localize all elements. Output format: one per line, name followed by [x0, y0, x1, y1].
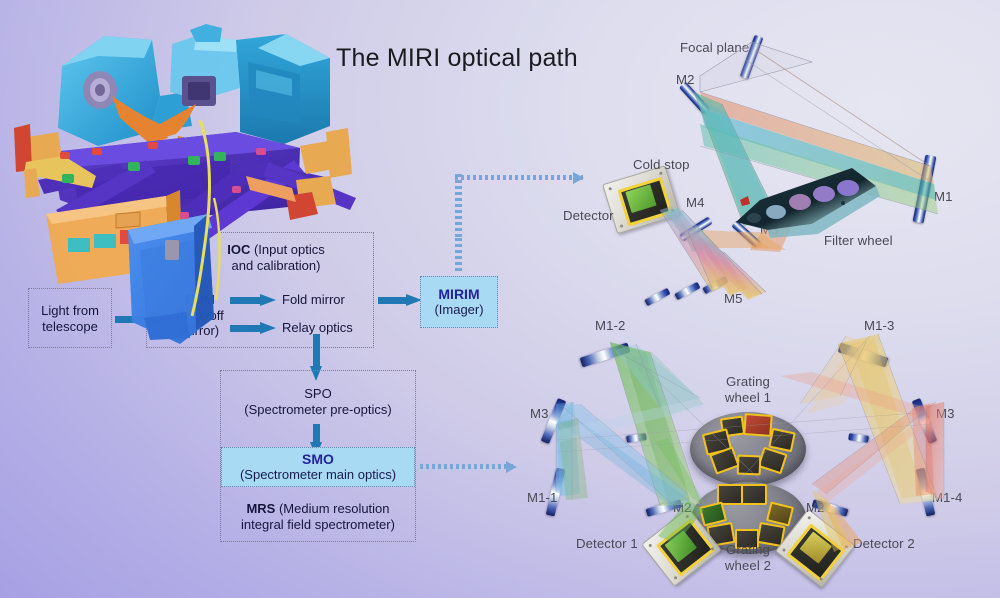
mrs-label: MRS (Medium resolution integral field sp…: [222, 501, 414, 532]
mirror-fold-left: [626, 433, 647, 443]
label-m1-2: M1-2: [595, 318, 625, 333]
grating-wheel-1-line2: wheel 1: [725, 390, 771, 405]
ioc-title-line2: and calibration): [232, 258, 321, 273]
ioc-title: IOC (Input optics and calibration): [176, 242, 376, 273]
smo-title: SMO: [302, 451, 334, 467]
arrow-pom-to-relay-optics: [230, 322, 278, 334]
mrs-title-line2: integral field spectrometer): [241, 517, 395, 532]
grating-1-segment-2: [743, 413, 772, 437]
label-detector-1: Detector 1: [576, 536, 638, 551]
mirror-fold-right: [848, 433, 869, 443]
pom-line3: mirror): [181, 323, 219, 338]
label-m3-right: M3: [936, 406, 955, 421]
spo-line1: SPO: [304, 386, 331, 401]
mirror-m3-imager: [731, 220, 760, 247]
mirror-m5-c: [644, 288, 670, 306]
dotted-arrow-smo-to-spectrometer: [420, 463, 516, 470]
page-title: The MIRI optical path: [336, 44, 578, 73]
mirror-m4-imager: [679, 217, 712, 242]
label-m5-imager: M5: [724, 291, 743, 306]
light-from-telescope-line2: telescope: [42, 319, 98, 334]
grating-wheel-1-line1: Grating: [726, 374, 770, 389]
label-m2-imager: M2: [676, 72, 695, 87]
pom-label: POM (Pick-off mirror): [160, 292, 240, 339]
label-m1-3: M1-3: [864, 318, 894, 333]
label-grating-wheel-2: Grating wheel 2: [708, 542, 788, 574]
filter-wheel-body: [736, 168, 880, 238]
label-m2-left: M2: [673, 500, 692, 515]
mirim-box[interactable]: MIRIM (Imager): [420, 276, 498, 328]
mirror-m5-b: [674, 282, 700, 300]
label-focal-plane: Focal plane: [680, 40, 749, 55]
mirror-m3-left: [541, 398, 567, 444]
label-grating-wheel-1: Grating wheel 1: [708, 374, 788, 406]
miri-optical-path-diagram: The MIRI optical path Light from telesco…: [0, 0, 1000, 598]
grating-1-segment-7: [737, 455, 762, 476]
mirim-subtitle: (Imager): [434, 302, 483, 318]
mirror-m3-right: [912, 398, 938, 444]
mrs-title-acronym: MRS: [246, 501, 275, 516]
label-m3-left: M3: [530, 406, 549, 421]
label-detector-imager: Detector: [563, 208, 614, 223]
dotted-arrow-mirim-to-imager: [455, 174, 583, 181]
pom-line2: (Pick-off: [176, 308, 223, 323]
ioc-title-rest: (Input optics: [250, 242, 324, 257]
mrs-title-rest: (Medium resolution: [275, 501, 389, 516]
mirror-m1-3: [838, 343, 889, 368]
mirim-title: MIRIM: [438, 286, 479, 302]
arrow-fold-mirror-to-mirim: [378, 294, 424, 306]
label-m4-imager: M4: [686, 195, 705, 210]
smo-box[interactable]: SMO (Spectrometer main optics): [221, 447, 415, 487]
grating-wheel-2-line1: Grating: [726, 542, 770, 557]
ioc-title-acronym: IOC: [227, 242, 250, 257]
dotted-connector-mirim-corner: [455, 174, 462, 240]
label-m1-4: M1-4: [932, 490, 962, 505]
relay-optics-label: Relay optics: [282, 320, 378, 336]
label-m2-right: M2: [806, 500, 825, 515]
grating-2-segment-2: [741, 484, 767, 505]
label-m1-1: M1-1: [527, 490, 557, 505]
spo-line2: (Spectrometer pre-optics): [244, 402, 391, 417]
arrow-pom-to-fold-mirror: [230, 294, 278, 306]
light-from-telescope-label: Light from telescope: [28, 303, 112, 334]
fold-mirror-label: Fold mirror: [282, 292, 378, 308]
dotted-connector-mirim-vertical: [455, 238, 462, 274]
label-detector-2: Detector 2: [853, 536, 915, 551]
pom-line1: POM: [185, 292, 215, 307]
label-m1-imager: M1: [934, 189, 953, 204]
grating-wheel-2-line2: wheel 2: [725, 558, 771, 573]
light-from-telescope-line1: Light from: [41, 303, 99, 318]
smo-subtitle: (Spectrometer main optics): [240, 467, 396, 483]
mirror-m1-2: [580, 343, 631, 368]
spo-label: SPO (Spectrometer pre-optics): [222, 386, 414, 417]
mirror-m1-imager: [913, 155, 937, 224]
label-cold-stop: Cold stop: [633, 157, 690, 172]
label-m3-imager: M3: [760, 222, 779, 237]
label-filter-wheel: Filter wheel: [824, 233, 893, 248]
